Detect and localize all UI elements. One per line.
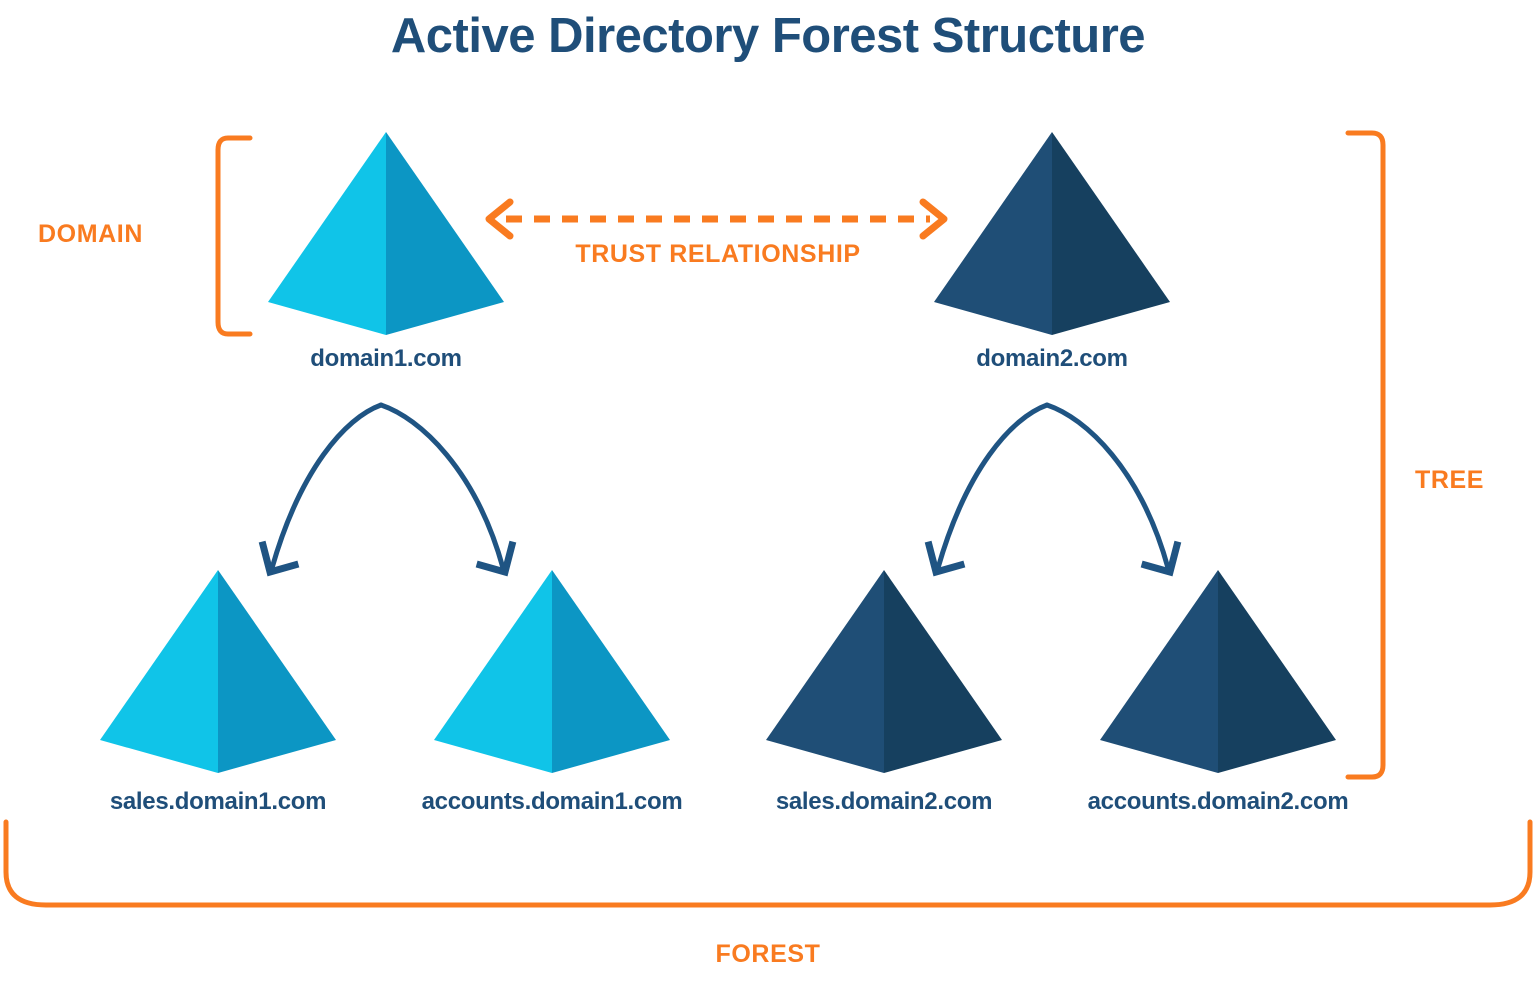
forest-bracket-icon: [6, 822, 1530, 905]
pyramid-icon-accounts-domain1[interactable]: [432, 568, 672, 778]
pyramid-icon-domain2[interactable]: [932, 130, 1172, 340]
node-label-sales-domain1: sales.domain1.com: [78, 788, 358, 816]
forest-annotation-label: FOREST: [0, 940, 1536, 969]
branch-arrow-left-1-icon: [272, 405, 381, 568]
node-label-sales-domain2: sales.domain2.com: [744, 788, 1024, 816]
pyramid-icon-domain1[interactable]: [266, 130, 506, 340]
branch-arrow-right-1-icon: [938, 405, 1047, 568]
domain-bracket-icon: [218, 138, 250, 334]
diagram-canvas: Active Directory Forest Structure domain…: [0, 0, 1536, 991]
node-label-domain2: domain2.com: [912, 345, 1192, 373]
trust-relationship-label: TRUST RELATIONSHIP: [0, 240, 1436, 269]
pyramid-icon-sales-domain1[interactable]: [98, 568, 338, 778]
pyramid-icon-sales-domain2[interactable]: [764, 568, 1004, 778]
node-label-accounts-domain2: accounts.domain2.com: [1058, 788, 1378, 816]
node-label-accounts-domain1: accounts.domain1.com: [392, 788, 712, 816]
tree-bracket-icon: [1348, 133, 1383, 777]
branch-arrow-right-2-icon: [1047, 405, 1168, 568]
pyramid-icon-accounts-domain2[interactable]: [1098, 568, 1338, 778]
connectors-layer: [0, 0, 1536, 991]
page-title: Active Directory Forest Structure: [0, 8, 1536, 64]
tree-annotation-label: TREE: [1415, 466, 1484, 495]
node-label-domain1: domain1.com: [246, 345, 526, 373]
branch-arrow-left-2-icon: [381, 405, 503, 568]
